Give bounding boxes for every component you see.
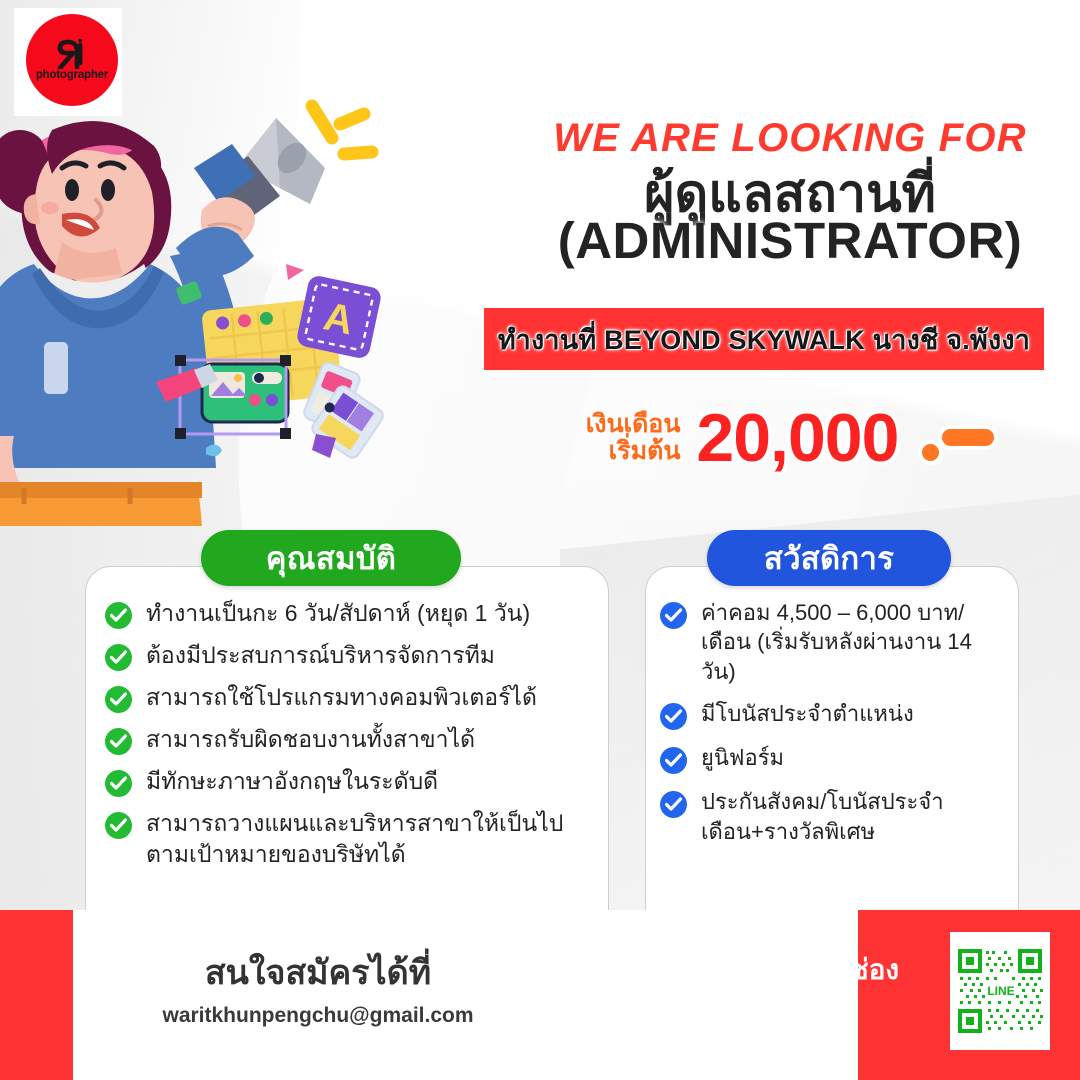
baht-dash-icon [922, 429, 994, 466]
list-item: ค่าคอม 4,500 – 6,000 บาท/เดือน (เริ่มรับ… [660, 598, 1010, 686]
baht-dash-bar [942, 429, 994, 446]
line-qr-code[interactable]: LINE [950, 932, 1050, 1050]
list-item: มีทักษะภาษาอังกฤษในระดับดี [105, 766, 605, 797]
apply-block: สนใจสมัครได้ที่ waritkhunpengchu@gmail.c… [73, 955, 563, 1028]
list-item-label: ต้องมีประสบการณ์บริหารจัดการทีม [146, 640, 495, 671]
check-icon [660, 703, 687, 730]
benefits-list: ค่าคอม 4,500 – 6,000 บาท/เดือน (เริ่มรับ… [660, 598, 1010, 859]
headline-block: WE ARE LOOKING FOR ผู้ดูแลสถานที่ (ADMIN… [520, 118, 1060, 267]
list-item-label: ค่าคอม 4,500 – 6,000 บาท/เดือน (เริ่มรับ… [701, 598, 1010, 686]
line-contact-line2: ทาง LINE [620, 989, 950, 1026]
benefits-badge-label: สวัสดิการ [764, 533, 894, 583]
job-poster: photographer [0, 0, 1080, 1080]
list-item-label: มีโบนัสประจำตำแหน่ง [701, 699, 914, 728]
list-item: มีโบนัสประจำตำแหน่ง [660, 699, 1010, 730]
list-item-label: สามารถใช้โปรแกรมทางคอมพิวเตอร์ได้ [146, 682, 537, 713]
salary-label: เงินเดือน เริ่มต้น [586, 411, 681, 465]
salary-label-line2: เริ่มต้น [586, 438, 681, 465]
salary-label-line1: เงินเดือน [586, 411, 681, 438]
line-contact-line1: หรือ สมัครผ่านช่อง [620, 952, 950, 989]
looking-for-text: WE ARE LOOKING FOR [520, 118, 1060, 158]
salary-amount-value: 20,000 [696, 400, 898, 476]
list-item: สามารถใช้โปรแกรมทางคอมพิวเตอร์ได้ [105, 682, 605, 713]
check-icon [105, 812, 132, 839]
r-photographer-mark-icon [55, 39, 89, 69]
line-contact-block: หรือ สมัครผ่านช่อง ทาง LINE [620, 952, 950, 1026]
location-banner: ทำงานที่ BEYOND SKYWALK นางชี จ.พังงา [484, 308, 1044, 370]
list-item: สามารถรับผิดชอบงานทั้งสาขาได้ [105, 724, 605, 755]
check-icon [105, 602, 132, 629]
apply-title: สนใจสมัครได้ที่ [73, 955, 563, 992]
apply-email[interactable]: waritkhunpengchu@gmail.com [73, 1004, 563, 1028]
check-icon [105, 728, 132, 755]
check-icon [660, 791, 687, 818]
check-icon [105, 686, 132, 713]
list-item-label: สามารถวางแผนและบริหารสาขาให้เป็นไปตามเป้… [146, 808, 605, 870]
role-title-english: (ADMINISTRATOR) [520, 215, 1060, 267]
qualifications-badge: คุณสมบัติ [201, 530, 461, 586]
qualifications-list: ทำงานเป็นกะ 6 วัน/สัปดาห์ (หยุด 1 วัน) ต… [105, 598, 605, 881]
brand-logo[interactable]: photographer [26, 14, 118, 106]
salary-block: เงินเดือน เริ่มต้น 20,000 [520, 398, 1060, 478]
logo-wordmark: photographer [36, 70, 108, 82]
location-text: ทำงานที่ BEYOND SKYWALK นางชี จ.พังงา [498, 318, 1030, 361]
list-item: ทำงานเป็นกะ 6 วัน/สัปดาห์ (หยุด 1 วัน) [105, 598, 605, 629]
list-item-label: ประกันสังคม/โบนัสประจำเดือน+รางวัลพิเศษ [701, 787, 1010, 846]
benefits-badge: สวัสดิการ [707, 530, 951, 586]
list-item: ต้องมีประสบการณ์บริหารจัดการทีม [105, 640, 605, 671]
baht-dash-dot [922, 444, 939, 461]
list-item-label: มีทักษะภาษาอังกฤษในระดับดี [146, 766, 438, 797]
list-item-label: ทำงานเป็นกะ 6 วัน/สัปดาห์ (หยุด 1 วัน) [146, 598, 530, 629]
list-item-label: ยูนิฟอร์ม [701, 743, 784, 772]
check-icon [105, 770, 132, 797]
check-icon [660, 602, 687, 629]
check-icon [660, 747, 687, 774]
list-item-label: สามารถรับผิดชอบงานทั้งสาขาได้ [146, 724, 475, 755]
list-item: ประกันสังคม/โบนัสประจำเดือน+รางวัลพิเศษ [660, 787, 1010, 846]
woman-with-megaphone-illustration: A [0, 96, 410, 526]
salary-amount: 20,000 [696, 404, 994, 472]
list-item: สามารถวางแผนและบริหารสาขาให้เป็นไปตามเป้… [105, 808, 605, 870]
qr-line-label: LINE [987, 984, 1014, 998]
qualifications-badge-label: คุณสมบัติ [266, 533, 396, 583]
check-icon [105, 644, 132, 671]
list-item: ยูนิฟอร์ม [660, 743, 1010, 774]
